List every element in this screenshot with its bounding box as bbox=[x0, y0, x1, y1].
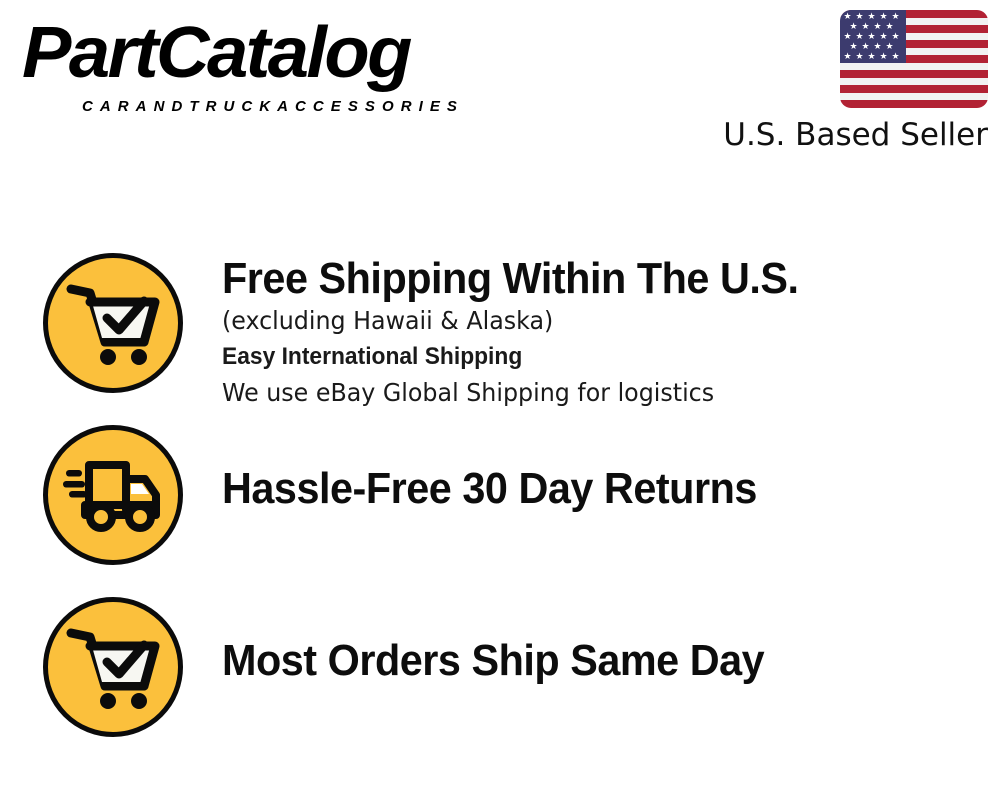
tagline-letter: C bbox=[313, 98, 324, 115]
flag-star: ★ bbox=[879, 32, 888, 41]
us-flag-icon: ★ ★ ★ ★ ★ ★ ★ ★ ★ ★ ★ ★ ★ ★ ★ ★ ★ ★ ★ ★ bbox=[840, 10, 988, 108]
flag-star: ★ bbox=[843, 12, 852, 21]
tagline-letter: K bbox=[259, 98, 270, 115]
flag-stripe bbox=[840, 100, 988, 108]
flag-star: ★ bbox=[855, 32, 864, 41]
flag-star: ★ bbox=[885, 42, 894, 51]
feature-row: Hassle-Free 30 Day Returns bbox=[0, 420, 1000, 592]
tagline-letter: E bbox=[430, 98, 440, 115]
feature-subtitle: (excluding Hawaii & Alaska) bbox=[222, 304, 925, 338]
flag-star: ★ bbox=[891, 12, 900, 21]
flag-star: ★ bbox=[879, 52, 888, 61]
shopping-cart-check-icon bbox=[43, 597, 183, 737]
flag-stripe bbox=[840, 93, 988, 101]
feature-title: Hassle-Free 30 Day Returns bbox=[222, 464, 918, 514]
seller-badge: ★ ★ ★ ★ ★ ★ ★ ★ ★ ★ ★ ★ ★ ★ ★ ★ ★ ★ ★ ★ bbox=[718, 10, 988, 153]
flag-star: ★ bbox=[855, 52, 864, 61]
brand-logo[interactable]: PartCatalog C A R A N D T R U C K A C C … bbox=[22, 14, 492, 114]
flag-stripe bbox=[840, 78, 988, 86]
tagline-letter: I bbox=[419, 98, 423, 115]
feature-text: Most Orders Ship Same Day bbox=[222, 636, 962, 686]
flag-star: ★ bbox=[873, 42, 882, 51]
tagline-letter: R bbox=[206, 98, 217, 115]
tagline-letter: D bbox=[171, 98, 182, 115]
tagline-letter: U bbox=[223, 98, 234, 115]
seller-label: U.S. Based Seller bbox=[718, 117, 988, 153]
tagline-letter: A bbox=[277, 98, 288, 115]
flag-star: ★ bbox=[891, 32, 900, 41]
flag-star: ★ bbox=[867, 32, 876, 41]
flag-star: ★ bbox=[879, 12, 888, 21]
tagline-letter: R bbox=[401, 98, 412, 115]
feature-row: Most Orders Ship Same Day bbox=[0, 592, 1000, 764]
flag-stripe bbox=[840, 70, 988, 78]
flag-star: ★ bbox=[867, 12, 876, 21]
tagline-letter: A bbox=[100, 98, 111, 115]
tagline-letter: O bbox=[382, 98, 394, 115]
flag-stripe bbox=[840, 85, 988, 93]
feature-subtitle: We use eBay Global Shipping for logistic… bbox=[222, 376, 925, 410]
tagline-letter: C bbox=[295, 98, 306, 115]
flag-star: ★ bbox=[861, 42, 870, 51]
tagline-letter: S bbox=[348, 98, 358, 115]
flag-star: ★ bbox=[885, 22, 894, 31]
tagline-letter: T bbox=[189, 98, 198, 115]
delivery-truck-icon bbox=[43, 425, 183, 565]
flag-stripe bbox=[840, 63, 988, 71]
tagline-letter: S bbox=[447, 98, 457, 115]
header: PartCatalog C A R A N D T R U C K A C C … bbox=[0, 0, 1000, 180]
tagline-letter: R bbox=[118, 98, 129, 115]
feature-row: Free Shipping Within The U.S. (excluding… bbox=[0, 248, 1000, 420]
tagline-letter: A bbox=[136, 98, 147, 115]
feature-text: Hassle-Free 30 Day Returns bbox=[222, 464, 962, 514]
brand-tagline: C A R A N D T R U C K A C C E S S O R I … bbox=[82, 98, 457, 115]
feature-text: Free Shipping Within The U.S. (excluding… bbox=[222, 254, 962, 410]
shopping-cart-check-icon bbox=[43, 253, 183, 393]
feature-title: Free Shipping Within The U.S. bbox=[222, 254, 918, 304]
brand-wordmark: PartCatalog bbox=[22, 14, 410, 92]
flag-star: ★ bbox=[855, 12, 864, 21]
tagline-letter: S bbox=[365, 98, 375, 115]
tagline-letter: C bbox=[82, 98, 93, 115]
feature-title: Most Orders Ship Same Day bbox=[222, 636, 918, 686]
tagline-letter: N bbox=[154, 98, 165, 115]
flag-star: ★ bbox=[849, 42, 858, 51]
feature-subtitle-bold: Easy International Shipping bbox=[222, 338, 925, 376]
flag-star: ★ bbox=[843, 32, 852, 41]
flag-star: ★ bbox=[891, 52, 900, 61]
tagline-letter: C bbox=[241, 98, 252, 115]
flag-star: ★ bbox=[873, 22, 882, 31]
flag-canton: ★ ★ ★ ★ ★ ★ ★ ★ ★ ★ ★ ★ ★ ★ ★ ★ ★ ★ ★ ★ bbox=[840, 10, 906, 63]
tagline-letter: E bbox=[331, 98, 341, 115]
flag-star: ★ bbox=[867, 52, 876, 61]
flag-star: ★ bbox=[843, 52, 852, 61]
flag-star: ★ bbox=[861, 22, 870, 31]
flag-star: ★ bbox=[849, 22, 858, 31]
